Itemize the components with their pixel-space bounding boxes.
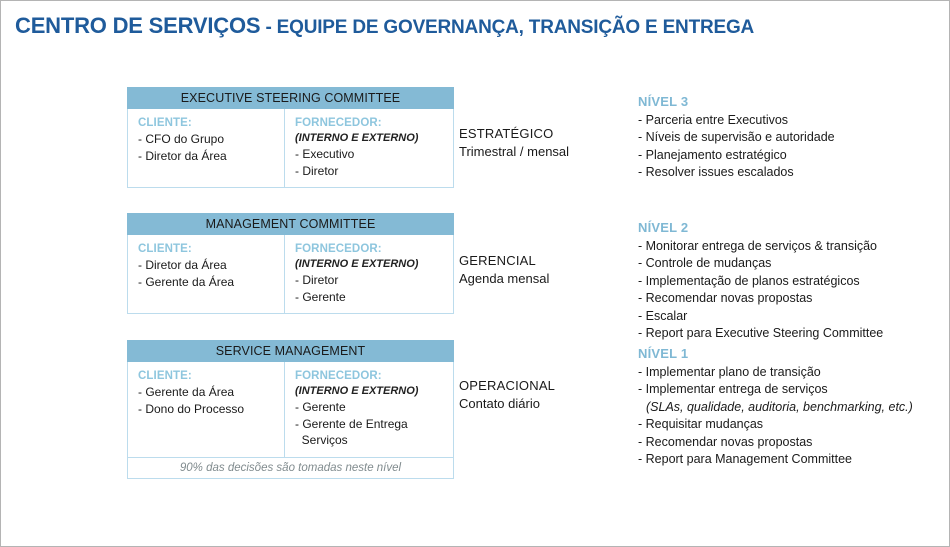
box-header-label: SERVICE MANAGEMENT bbox=[127, 340, 454, 362]
supplier-title: FORNECEDOR: bbox=[295, 116, 453, 131]
level-title: NÍVEL 1 bbox=[638, 345, 913, 363]
client-item: - Gerente da Área bbox=[138, 274, 284, 291]
client-item: - Dono do Processo bbox=[138, 401, 284, 418]
client-item: - Diretor da Área bbox=[138, 148, 284, 165]
supplier-item: Serviços bbox=[295, 432, 453, 449]
client-item: - Gerente da Área bbox=[138, 384, 284, 401]
tier-label-gerencial: GERENCIAL Agenda mensal bbox=[459, 252, 549, 288]
level-block-nivel-3: NÍVEL 3 - Parceria entre Executivos - Ní… bbox=[638, 93, 835, 182]
tier-label-estrategico: ESTRATÉGICO Trimestral / mensal bbox=[459, 125, 569, 161]
supplier-item: - Diretor bbox=[295, 163, 453, 180]
supplier-column: FORNECEDOR: (INTERNO E EXTERNO) - Direto… bbox=[284, 235, 453, 313]
level-item: - Implementar entrega de serviços bbox=[638, 381, 913, 398]
box-header-label: EXECUTIVE STEERING COMMITTEE bbox=[127, 87, 454, 109]
governance-box-executive-steering-committee[interactable]: EXECUTIVE STEERING COMMITTEE CLIENTE: - … bbox=[127, 87, 454, 188]
tier-name: ESTRATÉGICO bbox=[459, 125, 569, 143]
supplier-item: - Gerente bbox=[295, 399, 453, 416]
client-item: - CFO do Grupo bbox=[138, 131, 284, 148]
box-body: CLIENTE: - Gerente da Área - Dono do Pro… bbox=[127, 362, 454, 458]
level-item: - Controle de mudanças bbox=[638, 255, 883, 272]
client-title: CLIENTE: bbox=[138, 242, 284, 257]
box-body: CLIENTE: - CFO do Grupo - Diretor da Áre… bbox=[127, 109, 454, 188]
level-item: - Resolver issues escalados bbox=[638, 164, 835, 181]
supplier-title: FORNECEDOR: bbox=[295, 369, 453, 384]
level-title: NÍVEL 2 bbox=[638, 219, 883, 237]
level-item: - Recomendar novas propostas bbox=[638, 434, 913, 451]
supplier-column: FORNECEDOR: (INTERNO E EXTERNO) - Execut… bbox=[284, 109, 453, 187]
governance-box-management-committee[interactable]: MANAGEMENT COMMITTEE CLIENTE: - Diretor … bbox=[127, 213, 454, 314]
level-item: - Níveis de supervisão e autoridade bbox=[638, 129, 835, 146]
page-title: CENTRO DE SERVIÇOS - EQUIPE DE GOVERNANÇ… bbox=[15, 13, 754, 39]
level-item: - Monitorar entrega de serviços & transi… bbox=[638, 238, 883, 255]
level-block-nivel-2: NÍVEL 2 - Monitorar entrega de serviços … bbox=[638, 219, 883, 342]
box-footer-note: 90% das decisões são tomadas neste nível bbox=[127, 458, 454, 479]
tier-name: GERENCIAL bbox=[459, 252, 549, 270]
box-header-label: MANAGEMENT COMMITTEE bbox=[127, 213, 454, 235]
client-title: CLIENTE: bbox=[138, 116, 284, 131]
level-item: - Requisitar mudanças bbox=[638, 416, 913, 433]
governance-box-service-management[interactable]: SERVICE MANAGEMENT CLIENTE: - Gerente da… bbox=[127, 340, 454, 479]
client-column: CLIENTE: - CFO do Grupo - Diretor da Áre… bbox=[128, 109, 284, 187]
supplier-subtitle: (INTERNO E EXTERNO) bbox=[295, 384, 453, 399]
level-title: NÍVEL 3 bbox=[638, 93, 835, 111]
tier-cadence: Agenda mensal bbox=[459, 270, 549, 288]
supplier-subtitle: (INTERNO E EXTERNO) bbox=[295, 131, 453, 146]
page-title-lead: CENTRO DE SERVIÇOS bbox=[15, 13, 260, 38]
slide-canvas: CENTRO DE SERVIÇOS - EQUIPE DE GOVERNANÇ… bbox=[0, 0, 950, 547]
supplier-title: FORNECEDOR: bbox=[295, 242, 453, 257]
level-item: - Recomendar novas propostas bbox=[638, 290, 883, 307]
supplier-item: - Gerente de Entrega bbox=[295, 416, 453, 433]
page-title-tail: - EQUIPE DE GOVERNANÇA, TRANSIÇÃO E ENTR… bbox=[260, 17, 754, 38]
client-item: - Diretor da Área bbox=[138, 257, 284, 274]
tier-name: OPERACIONAL bbox=[459, 377, 555, 395]
level-item: - Planejamento estratégico bbox=[638, 147, 835, 164]
level-item-note: (SLAs, qualidade, auditoria, benchmarkin… bbox=[638, 399, 913, 416]
tier-cadence: Contato diário bbox=[459, 395, 555, 413]
level-item: - Report para Executive Steering Committ… bbox=[638, 325, 883, 342]
level-item: - Escalar bbox=[638, 308, 883, 325]
client-column: CLIENTE: - Gerente da Área - Dono do Pro… bbox=[128, 362, 284, 457]
level-item: - Report para Management Committee bbox=[638, 451, 913, 468]
supplier-item: - Gerente bbox=[295, 289, 453, 306]
box-body: CLIENTE: - Diretor da Área - Gerente da … bbox=[127, 235, 454, 314]
client-title: CLIENTE: bbox=[138, 369, 284, 384]
level-item: - Implementar plano de transição bbox=[638, 364, 913, 381]
tier-label-operacional: OPERACIONAL Contato diário bbox=[459, 377, 555, 413]
tier-cadence: Trimestral / mensal bbox=[459, 143, 569, 161]
supplier-subtitle: (INTERNO E EXTERNO) bbox=[295, 257, 453, 272]
supplier-item: - Executivo bbox=[295, 146, 453, 163]
client-column: CLIENTE: - Diretor da Área - Gerente da … bbox=[128, 235, 284, 313]
level-block-nivel-1: NÍVEL 1 - Implementar plano de transição… bbox=[638, 345, 913, 468]
supplier-column: FORNECEDOR: (INTERNO E EXTERNO) - Gerent… bbox=[284, 362, 453, 457]
supplier-item: - Diretor bbox=[295, 272, 453, 289]
level-item: - Parceria entre Executivos bbox=[638, 112, 835, 129]
level-item: - Implementação de planos estratégicos bbox=[638, 273, 883, 290]
